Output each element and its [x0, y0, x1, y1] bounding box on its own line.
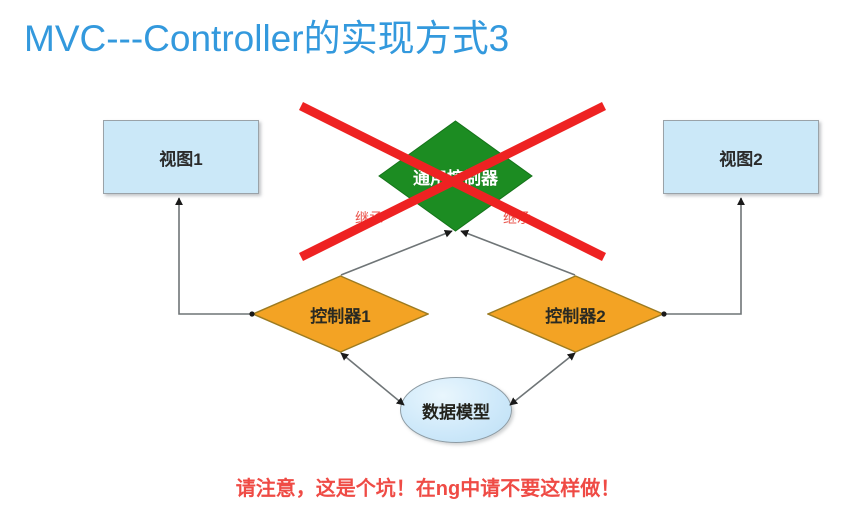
- edge-controller1-to-view1: [179, 198, 255, 317]
- view1-label: 视图1: [104, 121, 258, 193]
- edge-controller1-to-data-model: [341, 353, 404, 405]
- edge-controller2-to-data-model: [510, 353, 575, 405]
- edge-label-inherit-left: 继承: [355, 208, 383, 228]
- controller2-diamond[interactable]: 控制器2: [487, 275, 664, 353]
- warning-caption: 请注意，这是个坑！在ng中请不要这样做！: [0, 472, 856, 501]
- controller1-shape: [252, 275, 429, 353]
- view2-box[interactable]: 视图2: [663, 120, 819, 194]
- view1-box[interactable]: 视图1: [103, 120, 259, 194]
- controller2-shape: [487, 275, 664, 353]
- page-title: MVC---Controller的实现方式3: [24, 8, 509, 62]
- edge-controller1-to-generic-controller: [341, 231, 452, 275]
- controller1-diamond[interactable]: 控制器1: [252, 275, 429, 353]
- edge-label-inherit-right: 继承: [503, 208, 531, 228]
- data-model-ellipse[interactable]: 数据模型: [400, 377, 512, 443]
- slide-canvas: MVC---Controller的实现方式3: [0, 0, 856, 516]
- view2-label: 视图2: [664, 121, 818, 193]
- edge-controller2-to-view2: [661, 198, 741, 317]
- data-model-label: 数据模型: [401, 378, 511, 442]
- edge-controller2-to-generic-controller: [461, 231, 575, 275]
